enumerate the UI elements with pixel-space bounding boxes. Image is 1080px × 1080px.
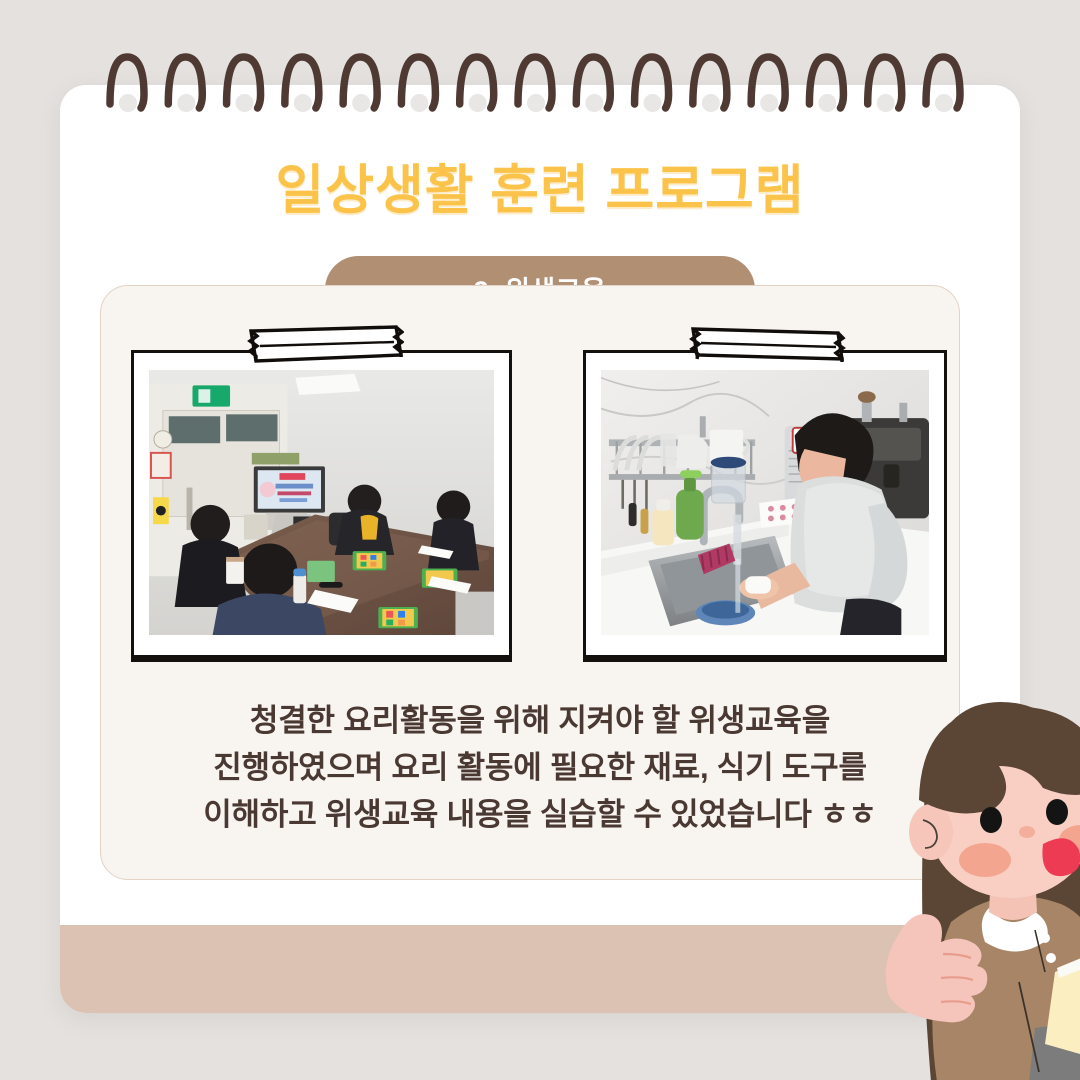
- photo-classroom-image: [149, 370, 494, 635]
- caption-line-3: 이해하고 위생교육 내용을 실습할 수 있었습니다 ㅎㅎ: [0, 791, 1080, 838]
- photo-dishwashing-image: [601, 370, 929, 635]
- photo-frame-classroom: [131, 350, 512, 662]
- caption-block: 청결한 요리활동을 위해 지켜야 할 위생교육을 진행하였으며 요리 활동에 필…: [0, 697, 1080, 838]
- photo-dishwashing: [601, 370, 929, 635]
- photo-frame-dishwashing: [583, 350, 947, 662]
- bottom-accent-bar: [60, 925, 1020, 1013]
- caption-line-2: 진행하였으며 요리 활동에 필요한 재료, 식기 도구를: [0, 744, 1080, 791]
- caption-line-1: 청결한 요리활동을 위해 지켜야 할 위생교육을: [0, 697, 1080, 744]
- page-title: 일상생활 훈련 프로그램: [0, 148, 1080, 224]
- photo-classroom: [149, 370, 494, 635]
